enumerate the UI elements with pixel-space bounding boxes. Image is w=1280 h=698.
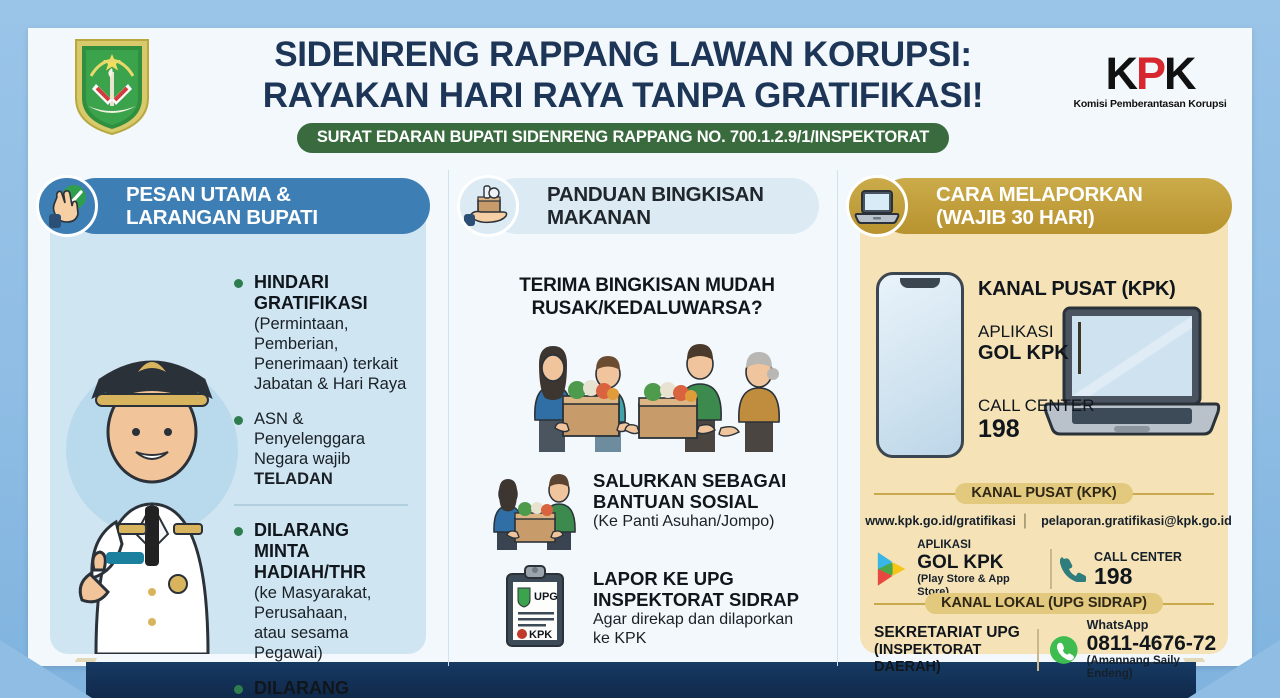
right-panel-body: KANAL PUSAT (KPK) APLIKASI GOL KPK CALL … (860, 194, 1228, 654)
left-header-pill: PESAN UTAMA & LARANGAN BUPATI (68, 178, 430, 234)
couple-donating-food-box-icon (489, 466, 581, 550)
mid-header-label: PANDUAN BINGKISAN MAKANAN (489, 183, 764, 229)
call-center-label: CALL CENTER (978, 396, 1095, 416)
bullet-sub-line: Jabatan & Hari Raya (254, 374, 408, 394)
bullet-head: DILARANG PAKAI (254, 678, 408, 698)
play-store-icon (874, 550, 909, 588)
mid-header-line-1: PANDUAN BINGKISAN (547, 183, 764, 206)
list-item: DILARANG MINTA HADIAH/THR (ke Masyarakat… (232, 520, 408, 663)
clipboard-upg-label: UPG (534, 591, 558, 603)
aplikasi-name: GOL KPK (978, 342, 1069, 365)
poster-header: SIDENRENG RAPPANG LAWAN KORUPSI: RAYAKAN… (28, 28, 1252, 168)
aplikasi-label: APLIKASI (978, 322, 1069, 342)
app-text: APLIKASI GOL KPK (Play Store & App Store… (917, 539, 1042, 599)
whatsapp-icon[interactable] (1049, 634, 1079, 666)
hand-holding-gift-box-icon (457, 175, 519, 237)
bullet-head: DILARANG MINTA (254, 520, 408, 562)
mid-sub-line-1: Agar direkap dan dilaporkan (593, 610, 799, 629)
mid-text-lapor-upg: LAPOR KE UPG INSPEKTORAT SIDRAP Agar dir… (593, 564, 799, 648)
mid-question-line-2: RUSAK/KEDALUWARSA? (491, 297, 803, 320)
whatsapp-text: WhatsApp 0811-4676-72 (Amannang Saily En… (1087, 618, 1218, 681)
mid-head-line-2: BANTUAN SOSIAL (593, 491, 786, 512)
kanal-pusat-heading: KANAL PUSAT (KPK) (978, 278, 1176, 301)
web-contact-row: www.kpk.go.id/gratifikasi | pelaporan.gr… (872, 512, 1218, 530)
list-item: DILARANG PAKAI FASILITAS DINAS Gunakan k… (232, 678, 408, 698)
left-panel-body: HINDARI GRATIFIKASI (Permintaan, Pemberi… (50, 194, 426, 654)
title-block: SIDENRENG RAPPANG LAWAN KORUPSI: RAYAKAN… (178, 34, 1068, 153)
cc-number: 198 (1094, 564, 1182, 589)
bullet-head-2: HADIAH/THR (254, 562, 408, 583)
mid-sub-line-1: (Ke Panti Asuhan/Jompo) (593, 512, 786, 531)
column-cara-melaporkan: KANAL PUSAT (KPK) APLIKASI GOL KPK CALL … (838, 170, 1250, 666)
clipboard-kpk-label: KPK (529, 629, 552, 641)
kpk-k1: K (1105, 48, 1136, 99)
sekretariat-line-2: (INSPEKTORAT DAERAH) (874, 642, 1033, 676)
call-center-number: 198 (978, 416, 1095, 443)
app-callcenter-divider (1050, 549, 1052, 589)
whatsapp-label: WhatsApp (1087, 618, 1218, 632)
local-divider (1037, 629, 1039, 671)
bullet-head: HINDARI GRATIFIKASI (254, 272, 408, 314)
mid-head-line-1: SALURKAN SEBAGAI (593, 470, 786, 491)
band-kanal-lokal: KANAL LOKAL (UPG SIDRAP) (874, 592, 1214, 614)
website-text[interactable]: www.kpk.go.id/gratifikasi (865, 514, 1016, 528)
app-and-callcenter-row: APLIKASI GOL KPK (Play Store & App Store… (874, 539, 1218, 599)
app-label: APLIKASI (917, 539, 1042, 552)
local-contact-row: SEKRETARIAT UPG (INSPEKTORAT DAERAH) Wha… (874, 618, 1218, 681)
kpk-logo: KPK Komisi Pemberantasan Korupsi (1070, 52, 1230, 110)
upg-clipboard-report-icon: UPG KPK (489, 564, 581, 648)
bullet-sub-strong: TELADAN (254, 470, 333, 488)
left-bullet-list: HINDARI GRATIFIKASI (Permintaan, Pemberi… (232, 272, 408, 698)
contact-separator: | (1023, 512, 1027, 530)
smartphone-illustration (876, 272, 964, 458)
phone-handset-icon (1060, 556, 1086, 582)
call-center-block: CALL CENTER 198 (978, 396, 1095, 443)
bullet-sub-line: Negara wajib TELADAN (254, 449, 408, 489)
family-sharing-food-boxes-illustration (509, 324, 819, 454)
mid-header-pill: PANDUAN BINGKISAN MAKANAN (489, 178, 819, 234)
right-vertical-divider (1078, 322, 1081, 374)
whatsapp-block: WhatsApp 0811-4676-72 (Amannang Saily En… (1049, 618, 1218, 681)
kpk-p: P (1136, 48, 1164, 99)
band-kanal-pusat: KANAL PUSAT (KPK) (874, 482, 1214, 504)
title-line-2: RAYAKAN HARI RAYA TANPA GRATIFIKASI! (178, 75, 1068, 116)
right-header-line-2: (WAJIB 30 HARI) (936, 206, 1143, 229)
kpk-subtitle: Komisi Pemberantasan Korupsi (1070, 98, 1230, 110)
laptop-icon (846, 175, 908, 237)
whatsapp-note: (Amannang Saily Endeng) (1087, 655, 1218, 681)
circular-letter-band: SURAT EDARAN BUPATI SIDENRENG RAPPANG NO… (297, 123, 949, 153)
list-item: ASN & Penyelenggara Negara wajib TELADAN (232, 409, 408, 489)
kpk-letters: KPK (1070, 52, 1230, 96)
band-kanal-pusat-label: KANAL PUSAT (KPK) (955, 483, 1132, 504)
hand-pointing-check-icon (36, 175, 98, 237)
mid-sub-line-2: ke KPK (593, 629, 799, 648)
mid-head-line-2: INSPEKTORAT SIDRAP (593, 589, 799, 610)
right-header-label: CARA MELAPORKAN (WAJIB 30 HARI) (878, 183, 1143, 229)
sekretariat-block: SEKRETARIAT UPG (INSPEKTORAT DAERAH) (874, 624, 1033, 676)
bullet-sub-line: (ke Masyarakat, Perusahaan, (254, 583, 408, 623)
column-panduan-bingkisan: TERIMA BINGKISAN MUDAH RUSAK/KEDALUWARSA… (448, 170, 838, 666)
whatsapp-number[interactable]: 0811-4676-72 (1087, 632, 1218, 655)
right-header-pill: CARA MELAPORKAN (WAJIB 30 HARI) (878, 178, 1232, 234)
left-header-label: PESAN UTAMA & LARANGAN BUPATI (68, 183, 318, 229)
bullet-sub-line: Penerimaan) terkait (254, 354, 408, 374)
band-kanal-lokal-label: KANAL LOKAL (UPG SIDRAP) (925, 593, 1163, 614)
kpk-k2: K (1164, 48, 1195, 99)
bullet-sub-line: (Permintaan, Pemberian, (254, 314, 408, 354)
cc-label: CALL CENTER (1094, 550, 1182, 564)
left-divider (234, 504, 408, 506)
mid-head-line-1: LAPOR KE UPG (593, 568, 799, 589)
mid-header-line-2: MAKANAN (547, 206, 764, 229)
callcenter-block-small: CALL CENTER 198 (1060, 550, 1218, 589)
title-line-1: SIDENRENG RAPPANG LAWAN KORUPSI: (178, 34, 1068, 75)
right-header-line-1: CARA MELAPORKAN (936, 183, 1143, 206)
left-header-line-1: PESAN UTAMA & (126, 183, 318, 206)
email-text[interactable]: pelaporan.gratifikasi@kpk.go.id (1041, 514, 1232, 528)
mid-row-lapor-upg: UPG KPK LAPOR KE UPG INSPEKTORAT SIDRAP … (489, 564, 805, 648)
columns-wrapper: HINDARI GRATIFIKASI (Permintaan, Pemberi… (28, 170, 1252, 666)
mid-question-line-1: TERIMA BINGKISAN MUDAH (491, 274, 803, 297)
callcenter-text: CALL CENTER 198 (1094, 550, 1182, 589)
mid-text-bantuan-sosial: SALURKAN SEBAGAI BANTUAN SOSIAL (Ke Pant… (593, 466, 786, 531)
left-header-line-2: LARANGAN BUPATI (126, 206, 318, 229)
regency-crest-icon (66, 34, 158, 138)
column-pesan-utama: HINDARI GRATIFIKASI (Permintaan, Pemberi… (28, 170, 448, 666)
aplikasi-block: APLIKASI GOL KPK (978, 322, 1069, 365)
mid-question: TERIMA BINGKISAN MUDAH RUSAK/KEDALUWARSA… (491, 274, 803, 320)
app-name: GOL KPK (917, 552, 1042, 573)
app-block: APLIKASI GOL KPK (Play Store & App Store… (874, 539, 1042, 599)
bullet-sub-text: Negara wajib (254, 450, 350, 468)
mid-panel-body: TERIMA BINGKISAN MUDAH RUSAK/KEDALUWARSA… (471, 194, 815, 654)
mid-row-bantuan-sosial: SALURKAN SEBAGAI BANTUAN SOSIAL (Ke Pant… (489, 466, 805, 550)
sekretariat-line-1: SEKRETARIAT UPG (874, 624, 1033, 642)
bupati-illustration-icon (56, 254, 246, 654)
bullet-sub-line: atau sesama Pegawai) (254, 623, 408, 663)
list-item: HINDARI GRATIFIKASI (Permintaan, Pemberi… (232, 272, 408, 394)
bullet-sub-line: ASN & Penyelenggara (254, 409, 408, 449)
